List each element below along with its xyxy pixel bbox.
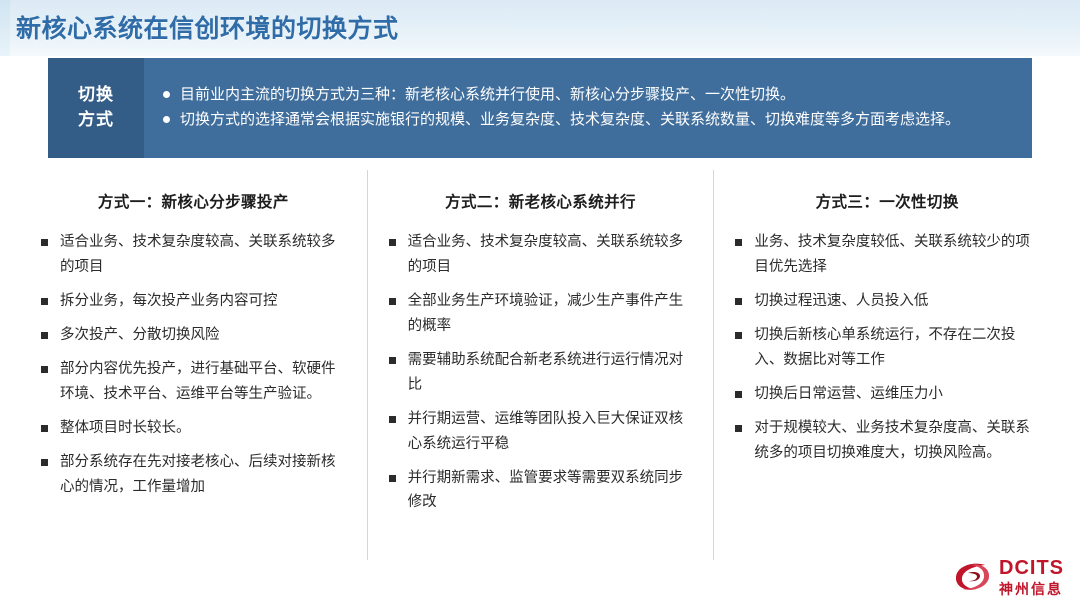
list-item-text: 业务、技术复杂度较低、关联系统较少的项目优先选择 [754,234,1030,275]
list-item-text: 需要辅助系统配合新老系统进行运行情况对比 [408,352,684,393]
banner-tag-line-2: 方式 [78,108,114,133]
logo-cn-text: 神州信息 [999,582,1064,596]
square-bullet-icon [41,366,48,373]
square-bullet-icon [735,425,742,432]
column-method-three: 方式三：一次性切换 业务、技术复杂度较低、关联系统较少的项目优先选择 切换过程迅… [713,170,1060,560]
list-item-text: 适合业务、技术复杂度较高、关联系统较多的项目 [60,234,336,275]
banner-bullet-text: 目前业内主流的切换方式为三种：新老核心系统并行使用、新核心分步骤投产、一次性切换… [180,86,795,103]
bullet-dot-icon [163,116,170,123]
banner-bullet-text: 切换方式的选择通常会根据实施银行的规模、业务复杂度、技术复杂度、关联系统数量、切… [180,111,960,128]
list-item: 需要辅助系统配合新老系统进行运行情况对比 [386,348,696,398]
square-bullet-icon [389,298,396,305]
square-bullet-icon [41,239,48,246]
list-item-text: 适合业务、技术复杂度较高、关联系统较多的项目 [408,234,684,275]
comparison-columns: 方式一：新核心分步骤投产 适合业务、技术复杂度较高、关联系统较多的项目 拆分业务… [20,170,1060,560]
list-item-text: 部分内容优先投产，进行基础平台、软硬件环境、技术平台、运维平台等生产验证。 [60,361,336,402]
square-bullet-icon [389,416,396,423]
list-item-text: 部分系统存在先对接老核心、后续对接新核心的情况，工作量增加 [60,454,336,495]
list-item: 适合业务、技术复杂度较高、关联系统较多的项目 [38,230,349,280]
page-title: 新核心系统在信创环境的切换方式 [16,9,399,45]
column-title: 方式一：新核心分步骤投产 [38,190,349,212]
list-item: 并行期新需求、监管要求等需要双系统同步修改 [386,466,696,516]
header-left-accent [0,0,10,56]
dcits-swirl-icon [953,559,993,595]
list-item: 部分内容优先投产，进行基础平台、软硬件环境、技术平台、运维平台等生产验证。 [38,357,349,407]
summary-banner: 切换 方式 目前业内主流的切换方式为三种：新老核心系统并行使用、新核心分步骤投产… [48,58,1032,158]
column-title: 方式二：新老核心系统并行 [386,190,696,212]
banner-tag: 切换 方式 [48,58,144,158]
list-item: 切换后日常运营、运维压力小 [732,382,1042,407]
list-item-text: 切换后日常运营、运维压力小 [754,386,943,402]
list-item: 全部业务生产环境验证，减少生产事件产生的概率 [386,289,696,339]
banner-tag-line-1: 切换 [78,83,114,108]
column-bullet-list: 业务、技术复杂度较低、关联系统较少的项目优先选择 切换过程迅速、人员投入低 切换… [732,230,1042,466]
list-item: 切换后新核心单系统运行，不存在二次投入、数据比对等工作 [732,323,1042,373]
list-item-text: 切换过程迅速、人员投入低 [754,293,928,309]
list-item-text: 全部业务生产环境验证，减少生产事件产生的概率 [408,293,684,334]
bullet-dot-icon [163,91,170,98]
square-bullet-icon [735,391,742,398]
logo-en-text: DCITS [999,558,1064,578]
square-bullet-icon [41,425,48,432]
square-bullet-icon [735,239,742,246]
banner-body: 目前业内主流的切换方式为三种：新老核心系统并行使用、新核心分步骤投产、一次性切换… [144,58,1032,158]
list-item: 对于规模较大、业务技术复杂度高、关联系统多的项目切换难度大，切换风险高。 [732,416,1042,466]
list-item-text: 整体项目时长较长。 [60,420,191,436]
square-bullet-icon [735,298,742,305]
list-item-text: 多次投产、分散切换风险 [60,327,220,343]
list-item: 适合业务、技术复杂度较高、关联系统较多的项目 [386,230,696,280]
column-method-one: 方式一：新核心分步骤投产 适合业务、技术复杂度较高、关联系统较多的项目 拆分业务… [20,170,367,560]
column-bullet-list: 适合业务、技术复杂度较高、关联系统较多的项目 全部业务生产环境验证，减少生产事件… [386,230,696,515]
square-bullet-icon [389,239,396,246]
square-bullet-icon [389,475,396,482]
list-item: 部分系统存在先对接老核心、后续对接新核心的情况，工作量增加 [38,450,349,500]
list-item: 多次投产、分散切换风险 [38,323,349,348]
list-item-text: 对于规模较大、业务技术复杂度高、关联系统多的项目切换难度大，切换风险高。 [754,420,1030,461]
square-bullet-icon [735,332,742,339]
column-title: 方式三：一次性切换 [732,190,1042,212]
list-item: 拆分业务，每次投产业务内容可控 [38,289,349,314]
list-item: 业务、技术复杂度较低、关联系统较少的项目优先选择 [732,230,1042,280]
banner-bullet: 切换方式的选择通常会根据实施银行的规模、业务复杂度、技术复杂度、关联系统数量、切… [162,108,1012,132]
banner-bullet: 目前业内主流的切换方式为三种：新老核心系统并行使用、新核心分步骤投产、一次性切换… [162,83,1012,107]
list-item: 并行期运营、运维等团队投入巨大保证双核心系统运行平稳 [386,407,696,457]
square-bullet-icon [389,357,396,364]
list-item-text: 并行期新需求、监管要求等需要双系统同步修改 [408,470,684,511]
square-bullet-icon [41,298,48,305]
column-bullet-list: 适合业务、技术复杂度较高、关联系统较多的项目 拆分业务，每次投产业务内容可控 多… [38,230,349,499]
company-logo: DCITS 神州信息 [953,558,1064,596]
logo-text: DCITS 神州信息 [999,558,1064,596]
list-item: 切换过程迅速、人员投入低 [732,289,1042,314]
square-bullet-icon [41,459,48,466]
list-item-text: 并行期运营、运维等团队投入巨大保证双核心系统运行平稳 [408,411,684,452]
square-bullet-icon [41,332,48,339]
list-item-text: 拆分业务，每次投产业务内容可控 [60,293,278,309]
slide: 新核心系统在信创环境的切换方式 切换 方式 目前业内主流的切换方式为三种：新老核… [0,0,1080,608]
list-item-text: 切换后新核心单系统运行，不存在二次投入、数据比对等工作 [754,327,1015,368]
list-item: 整体项目时长较长。 [38,416,349,441]
column-method-two: 方式二：新老核心系统并行 适合业务、技术复杂度较高、关联系统较多的项目 全部业务… [367,170,714,560]
